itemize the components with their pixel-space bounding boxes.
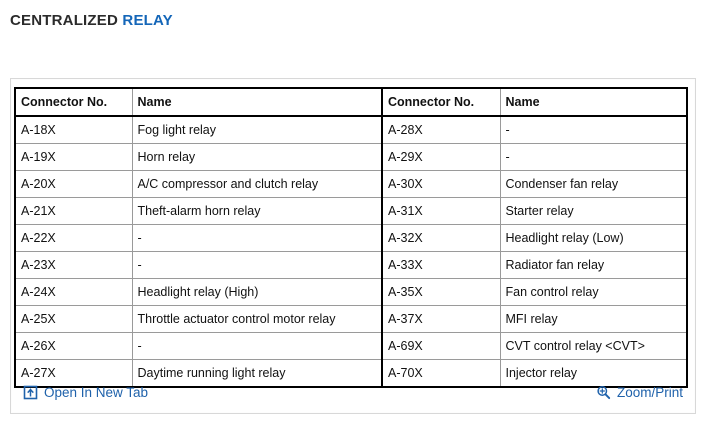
table-row: A-19XHorn relayA-29X- xyxy=(15,144,687,171)
cell-connector-left: A-22X xyxy=(15,225,132,252)
cell-name-right: Headlight relay (Low) xyxy=(500,225,687,252)
table-header-row: Connector No. Name Connector No. Name xyxy=(15,88,687,116)
cell-name-right: CVT control relay <CVT> xyxy=(500,333,687,360)
cell-name-left: A/C compressor and clutch relay xyxy=(132,171,382,198)
cell-connector-left: A-18X xyxy=(15,116,132,144)
external-window-icon xyxy=(23,385,38,400)
header-name-right: Name xyxy=(500,88,687,116)
header-connector-left: Connector No. xyxy=(15,88,132,116)
cell-name-left: - xyxy=(132,252,382,279)
cell-connector-left: A-21X xyxy=(15,198,132,225)
cell-name-left: Theft-alarm horn relay xyxy=(132,198,382,225)
zoom-print-link[interactable]: Zoom/Print xyxy=(596,385,683,400)
cell-name-right: - xyxy=(500,144,687,171)
cell-connector-right: A-31X xyxy=(382,198,500,225)
page-title-accent: RELAY xyxy=(122,12,172,29)
table-row: A-20XA/C compressor and clutch relayA-30… xyxy=(15,171,687,198)
relay-table-head: Connector No. Name Connector No. Name xyxy=(15,88,687,116)
cell-name-left: - xyxy=(132,333,382,360)
cell-name-right: Starter relay xyxy=(500,198,687,225)
table-row: A-22X-A-32XHeadlight relay (Low) xyxy=(15,225,687,252)
cell-name-left: Fog light relay xyxy=(132,116,382,144)
cell-connector-left: A-23X xyxy=(15,252,132,279)
cell-name-right: Condenser fan relay xyxy=(500,171,687,198)
table-row: A-18XFog light relayA-28X- xyxy=(15,116,687,144)
cell-connector-right: A-35X xyxy=(382,279,500,306)
cell-connector-left: A-25X xyxy=(15,306,132,333)
table-row: A-25XThrottle actuator control motor rel… xyxy=(15,306,687,333)
table-row: A-26X-A-69XCVT control relay <CVT> xyxy=(15,333,687,360)
cell-name-left: Horn relay xyxy=(132,144,382,171)
cell-connector-right: A-33X xyxy=(382,252,500,279)
zoom-print-label: Zoom/Print xyxy=(617,385,683,400)
cell-connector-left: A-19X xyxy=(15,144,132,171)
header-connector-right: Connector No. xyxy=(382,88,500,116)
cell-connector-right: A-37X xyxy=(382,306,500,333)
page-title-main: CENTRALIZED xyxy=(10,12,118,29)
figure-panel: Connector No. Name Connector No. Name A-… xyxy=(10,78,696,414)
magnifier-plus-icon xyxy=(596,385,611,400)
cell-name-left: Throttle actuator control motor relay xyxy=(132,306,382,333)
header-name-left: Name xyxy=(132,88,382,116)
cell-name-right: MFI relay xyxy=(500,306,687,333)
cell-connector-left: A-26X xyxy=(15,333,132,360)
cell-name-left: - xyxy=(132,225,382,252)
relay-table-container: Connector No. Name Connector No. Name A-… xyxy=(14,87,686,388)
figure-footer: Open In New Tab Zoom/Print xyxy=(11,377,695,413)
open-in-new-tab-label: Open In New Tab xyxy=(44,385,148,400)
cell-name-left: Headlight relay (High) xyxy=(132,279,382,306)
cell-name-right: - xyxy=(500,116,687,144)
cell-connector-left: A-20X xyxy=(15,171,132,198)
table-row: A-23X-A-33XRadiator fan relay xyxy=(15,252,687,279)
table-row: A-24XHeadlight relay (High)A-35XFan cont… xyxy=(15,279,687,306)
cell-name-right: Radiator fan relay xyxy=(500,252,687,279)
cell-connector-right: A-30X xyxy=(382,171,500,198)
cell-connector-right: A-32X xyxy=(382,225,500,252)
cell-connector-right: A-69X xyxy=(382,333,500,360)
relay-table-body: A-18XFog light relayA-28X-A-19XHorn rela… xyxy=(15,116,687,387)
relay-table: Connector No. Name Connector No. Name A-… xyxy=(14,87,688,388)
page-title: CENTRALIZED RELAY xyxy=(10,12,173,29)
cell-connector-right: A-28X xyxy=(382,116,500,144)
open-in-new-tab-link[interactable]: Open In New Tab xyxy=(23,385,148,400)
cell-name-right: Fan control relay xyxy=(500,279,687,306)
cell-connector-left: A-24X xyxy=(15,279,132,306)
cell-connector-right: A-29X xyxy=(382,144,500,171)
table-row: A-21XTheft-alarm horn relayA-31XStarter … xyxy=(15,198,687,225)
